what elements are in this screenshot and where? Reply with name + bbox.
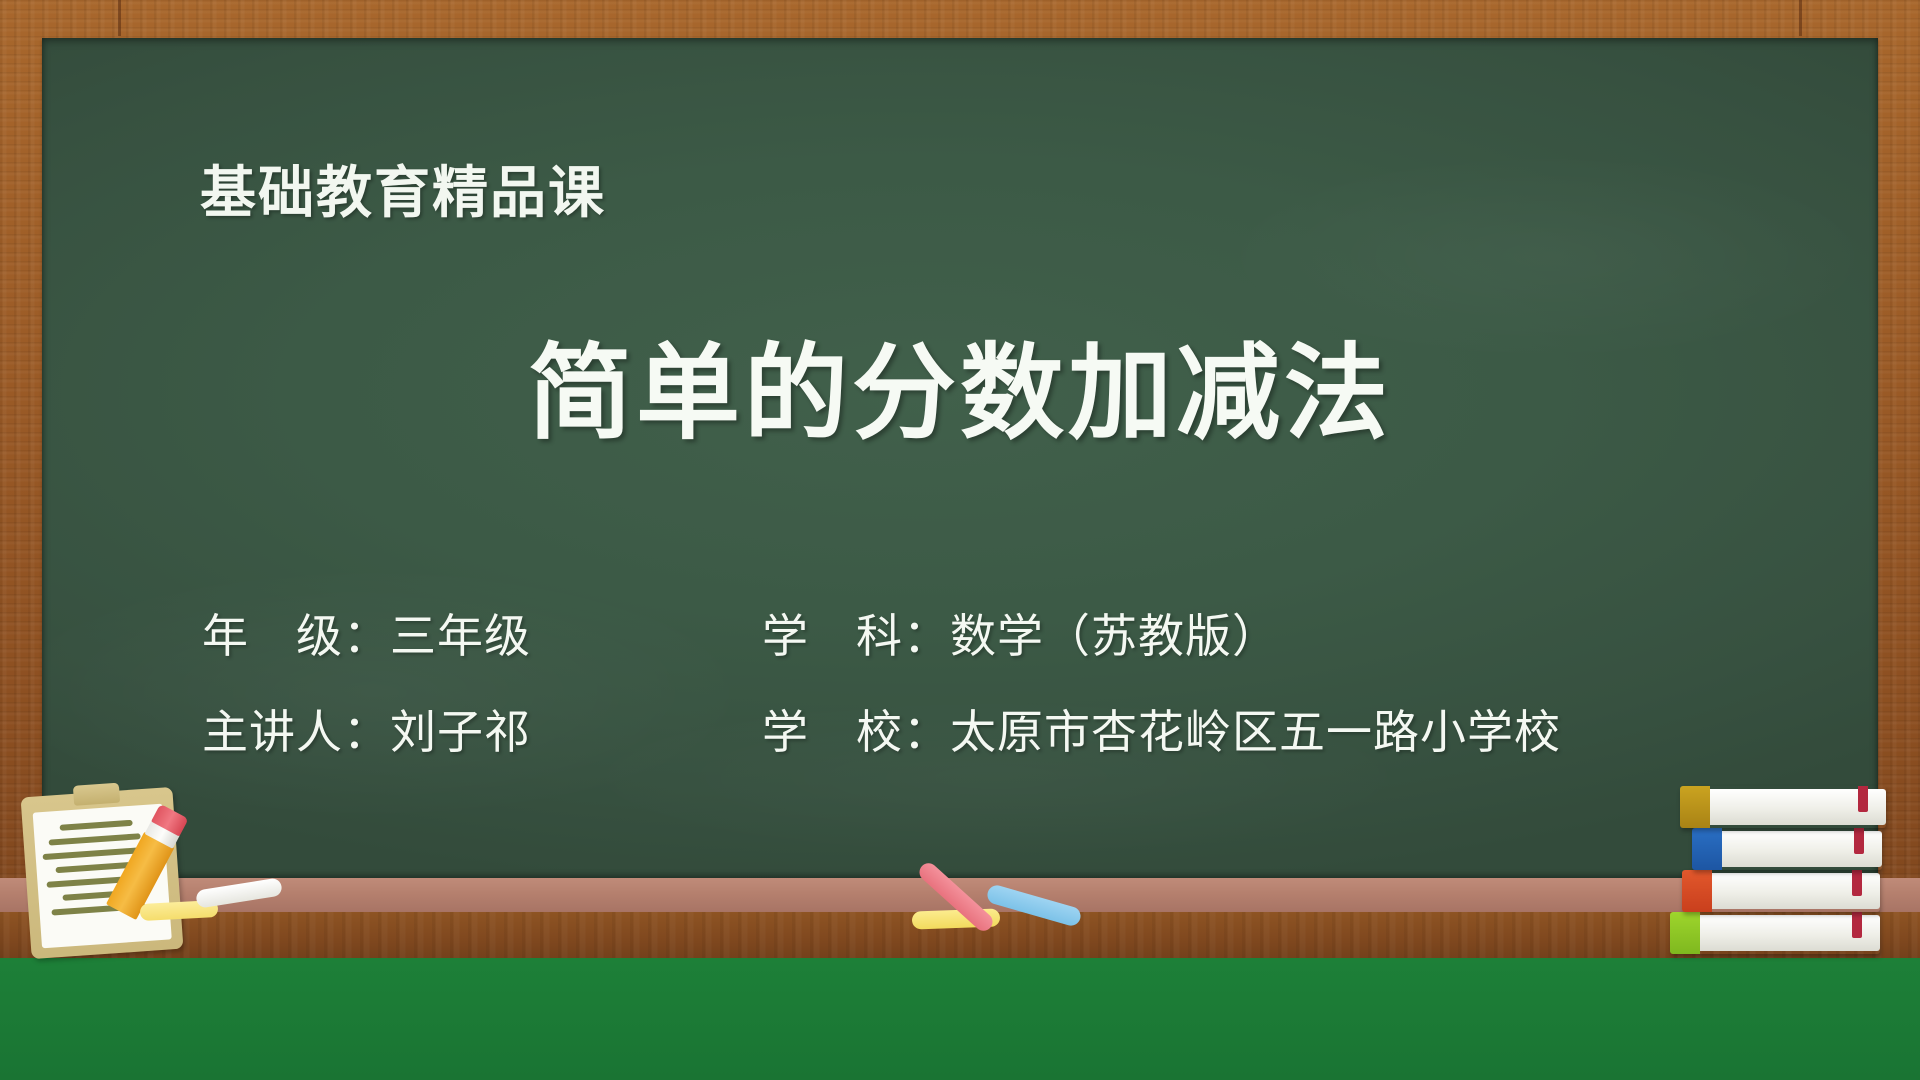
title-slide: 基础教育精品课 简单的分数加减法 年 级：三年级 学 科：数学（苏教版） 主讲人…: [0, 0, 1920, 1080]
book-bookmark: [1854, 828, 1864, 854]
bottom-green-band: [0, 958, 1920, 1080]
frame-seam-right: [1799, 0, 1802, 36]
meta-subject: 学 科：数学（苏教版）: [762, 600, 1818, 666]
book-bookmark: [1852, 912, 1862, 938]
frame-seam-left: [118, 0, 121, 36]
meta-presenter: 主讲人：刘子祁: [202, 696, 762, 762]
meta-school: 学 校：太原市杏花岭区五一路小学校: [762, 696, 1818, 762]
book-spine: [1680, 786, 1710, 828]
book-spine: [1670, 912, 1700, 954]
lesson-title: 简单的分数加减法: [42, 308, 1878, 459]
book-green: [1670, 912, 1880, 954]
program-eyebrow: 基础教育精品课: [200, 148, 606, 229]
book-red: [1682, 870, 1880, 912]
book-bookmark: [1852, 870, 1862, 896]
book-spine: [1682, 870, 1712, 912]
lesson-meta-grid: 年 级：三年级 学 科：数学（苏教版） 主讲人：刘子祁 学 校：太原市杏花岭区五…: [202, 590, 1818, 772]
clipboard-clip: [73, 783, 120, 806]
chalkboard: 基础教育精品课 简单的分数加减法 年 级：三年级 学 科：数学（苏教版） 主讲人…: [42, 38, 1878, 878]
book-spine: [1692, 828, 1722, 870]
meta-grade: 年 级：三年级: [202, 600, 762, 666]
book-stack-icon: [1664, 766, 1892, 958]
book-bookmark: [1858, 786, 1868, 812]
chalkboard-content: 基础教育精品课 简单的分数加减法 年 级：三年级 学 科：数学（苏教版） 主讲人…: [42, 38, 1878, 878]
book-gold: [1680, 786, 1886, 828]
book-blue: [1692, 828, 1882, 870]
